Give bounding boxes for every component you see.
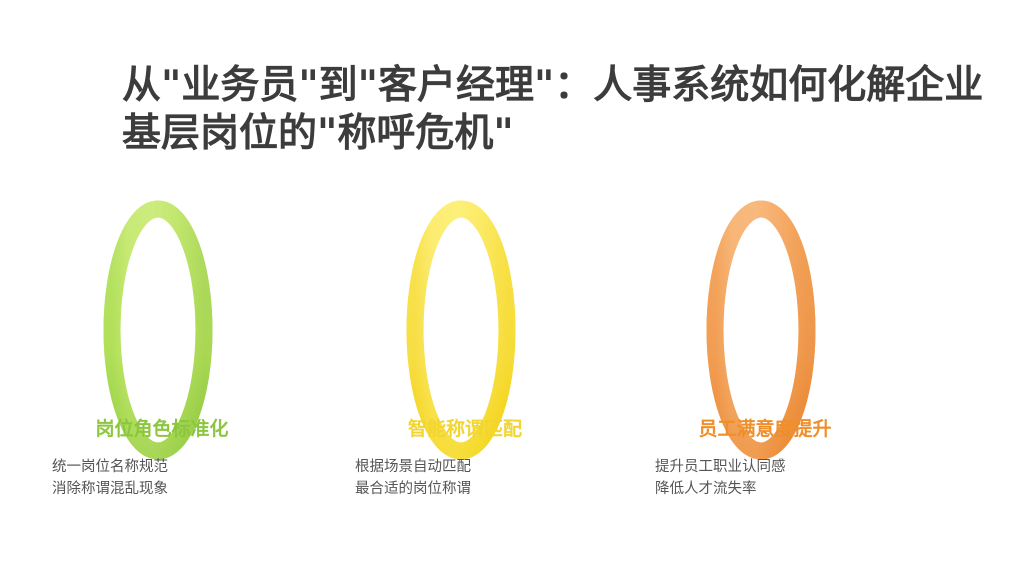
page-title: 从"业务员"到"客户经理"：人事系统如何化解企业基层岗位的"称呼危机" bbox=[122, 62, 1002, 157]
feature-column-1: 岗位角色标准化 统一岗位名称规范 消除称谓混乱现象 bbox=[12, 200, 312, 520]
feature-label-1: 岗位角色标准化 bbox=[12, 420, 312, 439]
feature-description-line: 统一岗位名称规范 bbox=[52, 456, 322, 478]
feature-description-line: 降低人才流失率 bbox=[655, 478, 925, 500]
feature-description-line: 最合适的岗位称谓 bbox=[355, 478, 625, 500]
feature-label-3: 员工满意度提升 bbox=[615, 420, 915, 439]
feature-description-line: 消除称谓混乱现象 bbox=[52, 478, 322, 500]
feature-description-line: 根据场景自动匹配 bbox=[355, 456, 625, 478]
slide-canvas: 从"业务员"到"客户经理"：人事系统如何化解企业基层岗位的"称呼危机" bbox=[0, 0, 1024, 576]
feature-description-1: 统一岗位名称规范 消除称谓混乱现象 bbox=[52, 456, 322, 501]
feature-column-3: 员工满意度提升 提升员工职业认同感 降低人才流失率 bbox=[615, 200, 915, 520]
feature-label-2: 智能称谓匹配 bbox=[315, 420, 615, 439]
feature-description-2: 根据场景自动匹配 最合适的岗位称谓 bbox=[355, 456, 625, 501]
feature-description-line: 提升员工职业认同感 bbox=[655, 456, 925, 478]
title-text: 从"业务员"到"客户经理"：人事系统如何化解企业基层岗位的"称呼危机" bbox=[122, 62, 1002, 157]
feature-column-2: 智能称谓匹配 根据场景自动匹配 最合适的岗位称谓 bbox=[315, 200, 615, 520]
feature-description-3: 提升员工职业认同感 降低人才流失率 bbox=[655, 456, 925, 501]
